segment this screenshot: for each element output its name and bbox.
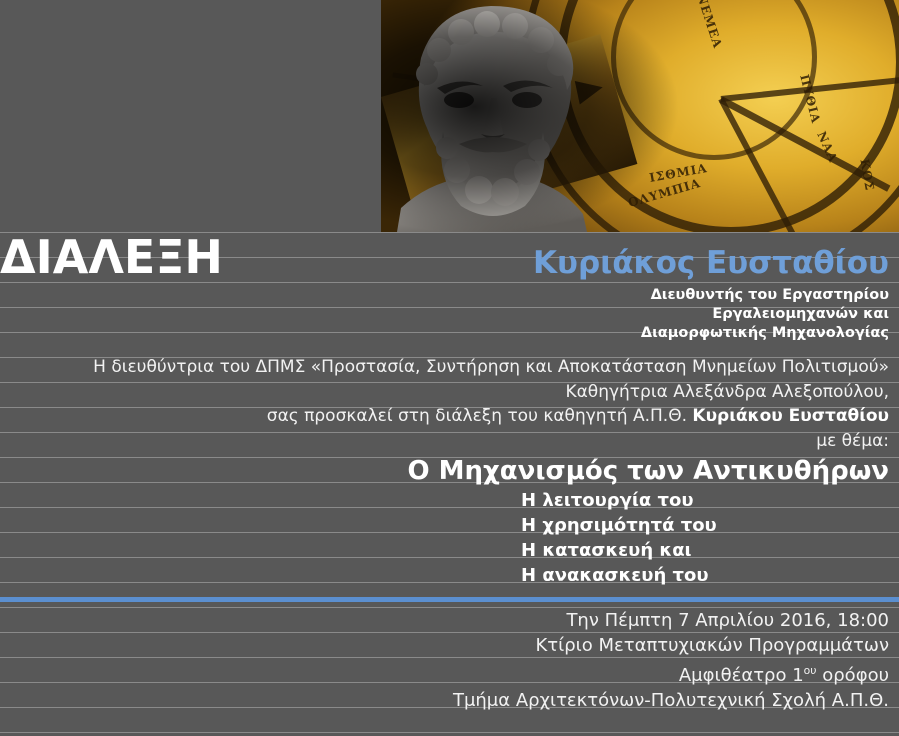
topic-list-item: Η χρησιμότητά του (521, 513, 717, 538)
topic-heading: Ο Μηχανισμός των Αντικυθήρων (407, 455, 889, 487)
invitation-line-3-prefix: σας προσκαλεί στη διάλεξη του καθηγητή Α… (267, 406, 693, 426)
venue-room-suffix: ορόφου (817, 665, 889, 686)
invitation-line-1: Η διευθύντρια του ΔΠΜΣ «Προστασία, Συντή… (93, 355, 889, 380)
invitation-line-2: Καθηγήτρια Αλεξάνδρα Αλεξοπούλου, (93, 380, 889, 405)
venue-details: Την Πέμπτη 7 Απριλίου 2016, 18:00 Κτίριο… (453, 608, 889, 713)
marble-bust-icon (387, 2, 599, 232)
section-divider (0, 597, 899, 602)
invitation-text: Η διευθύντρια του ΔΠΜΣ «Προστασία, Συντή… (93, 355, 889, 453)
venue-room: Αμφιθέατρο 1ου ορόφου (453, 658, 889, 688)
speaker-role-line: Διευθυντής του Εργαστηρίου (641, 286, 889, 305)
venue-room-prefix: Αμφιθέατρο 1 (679, 665, 804, 686)
speaker-role-line: Εργαλειομηχανών και (641, 305, 889, 324)
topic-list-item: Η κατασκευή και (521, 538, 717, 563)
invitation-line-4: με θέμα: (93, 429, 889, 454)
invitation-line-3: σας προσκαλεί στη διάλεξη του καθηγητή Α… (93, 404, 889, 429)
venue-building: Κτίριο Μεταπτυχιακών Προγραμμάτων (453, 633, 889, 658)
topic-list-item: Η ανακασκευή του (521, 563, 717, 588)
page-title: ΔΙΑΛΕΞΗ (0, 232, 223, 282)
speaker-role-line: Διαμορφωτικής Μηχανολογίας (641, 324, 889, 343)
venue-room-ordinal: ου (804, 664, 817, 677)
speaker-name: Κυριάκος Ευσταθίου (533, 245, 889, 282)
venue-department: Τμήμα Αρχιτεκτόνων-Πολυτεχνική Σχολή Α.Π… (453, 688, 889, 713)
topic-list: Η λειτουργία του Η χρησιμότητά του Η κατ… (521, 488, 717, 588)
speaker-role: Διευθυντής του Εργαστηρίου Εργαλειομηχαν… (641, 286, 889, 343)
event-datetime: Την Πέμπτη 7 Απριλίου 2016, 18:00 (453, 608, 889, 633)
lecture-poster: ΝΕΜΕΑ ΙΣΘΜΙΑ ΟΛΥΜΠΙΑ ΠΥΘΙΑ ΝΑΑ ΚΟΣ (0, 0, 899, 736)
invitation-speaker-emphasis: Κυριάκου Ευσταθίου (692, 406, 889, 426)
hero-photo: ΝΕΜΕΑ ΙΣΘΜΙΑ ΟΛΥΜΠΙΑ ΠΥΘΙΑ ΝΑΑ ΚΟΣ (381, 0, 899, 232)
topic-list-item: Η λειτουργία του (521, 488, 717, 513)
